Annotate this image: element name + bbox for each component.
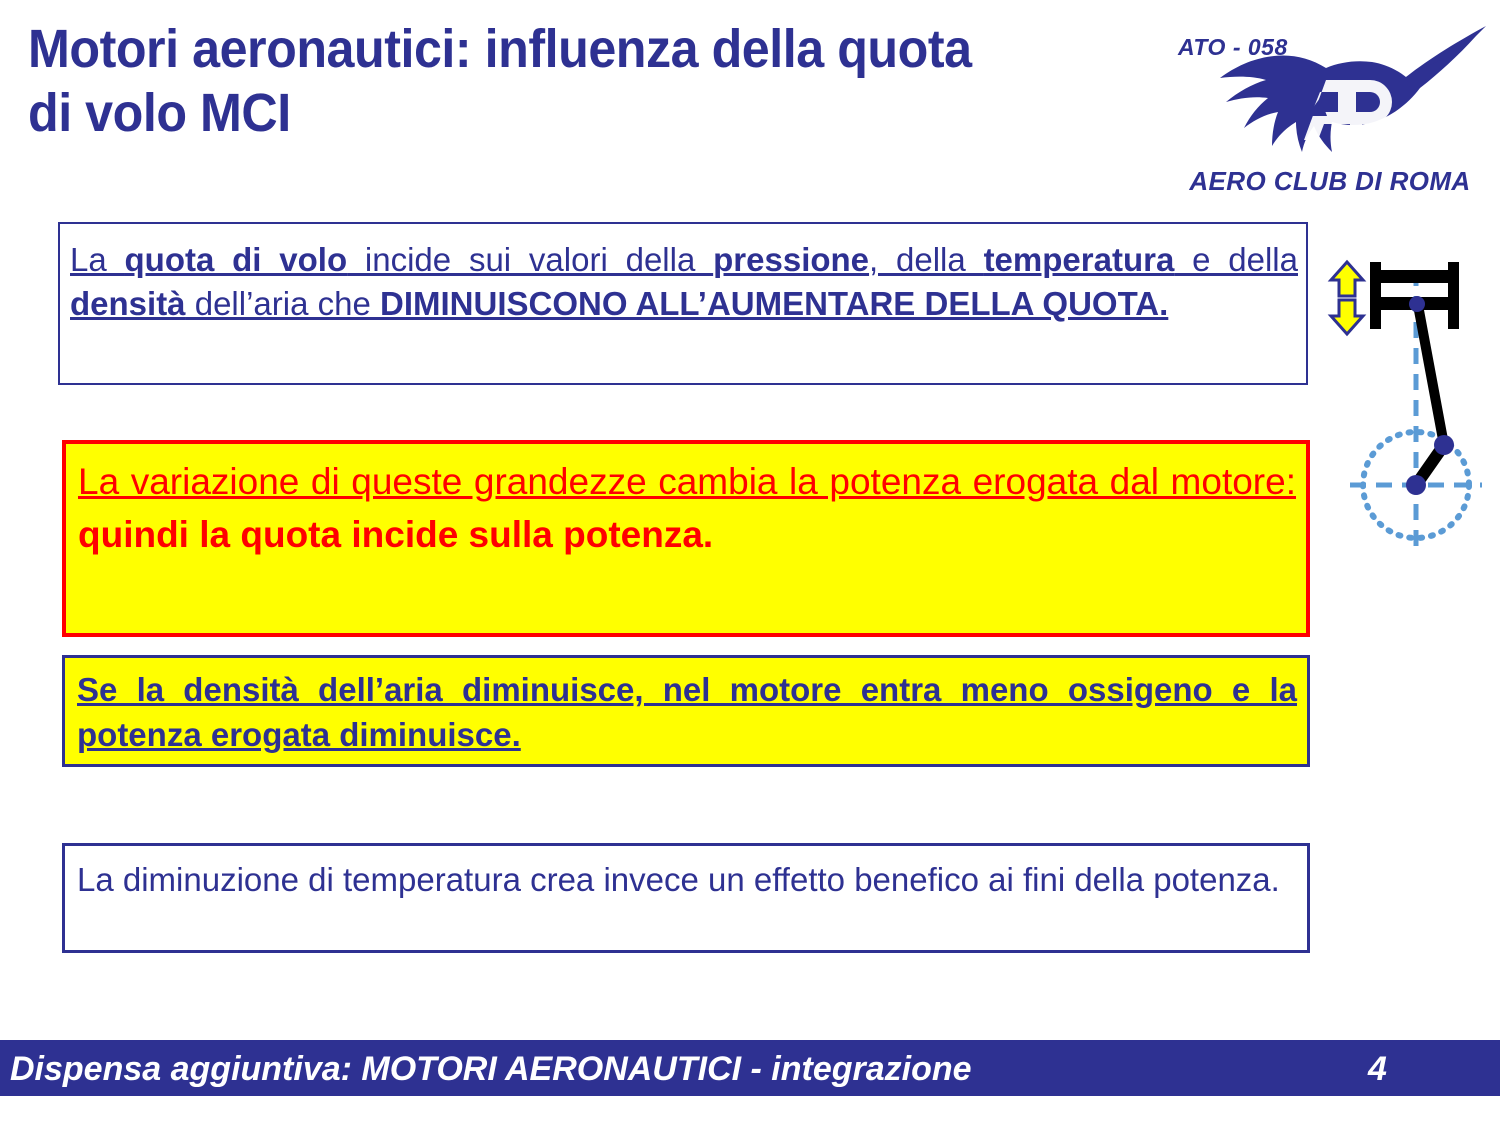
logo-ato-code: ATO - 058 — [1178, 34, 1288, 61]
quota-seg-10: DIMINUISCONO ALL’AUMENTARE DELLA QUOTA. — [380, 285, 1168, 322]
crank-pin-icon — [1434, 435, 1454, 455]
footer-page-number: 4 — [1368, 1050, 1387, 1089]
slide-root: Motori aeronautici: influenza della quot… — [0, 0, 1500, 1125]
variazione-seg-2: quindi la quota incide sulla potenza. — [78, 514, 713, 555]
temperatura-text: La diminuzione di temperatura crea invec… — [77, 861, 1280, 898]
textbox-diminuzione-temperatura: La diminuzione di temperatura crea invec… — [62, 843, 1310, 953]
crank-center-icon — [1406, 475, 1426, 495]
piston-crank-diagram — [1320, 240, 1500, 560]
arrow-down-icon — [1331, 300, 1363, 334]
aero-club-logo: ATO - 058 AERO CLUB DI ROMA — [1140, 14, 1490, 206]
variazione-seg-1: La variazione di queste grandezze cambia… — [78, 461, 1296, 502]
piston-icon — [1370, 262, 1459, 329]
logo-club-name: AERO CLUB DI ROMA — [1170, 166, 1490, 197]
quota-seg-7: e della — [1174, 241, 1298, 278]
textbox-quota-di-volo: La quota di volo incide sui valori della… — [58, 222, 1308, 385]
footer-title: Dispensa aggiuntiva: MOTORI AERONAUTICI … — [10, 1050, 972, 1089]
densita-text: Se la densità dell’aria diminuisce, nel … — [77, 671, 1297, 753]
quota-seg-1: La — [70, 241, 125, 278]
quota-seg-4: pressione — [713, 241, 869, 278]
textbox-densita-aria: Se la densità dell’aria diminuisce, nel … — [62, 655, 1310, 767]
quota-seg-2: quota di volo — [125, 241, 348, 278]
connecting-rod-icon — [1418, 305, 1444, 445]
quota-seg-6: temperatura — [984, 241, 1175, 278]
quota-seg-8: densità — [70, 285, 186, 322]
wrist-pin-icon — [1409, 296, 1425, 312]
textbox-variazione-grandezze: La variazione di queste grandezze cambia… — [62, 440, 1310, 637]
arrow-up-icon — [1331, 262, 1363, 296]
quota-seg-5: , della — [869, 241, 984, 278]
quota-seg-9: dell’aria che — [186, 285, 380, 322]
quota-seg-3: incide sui valori della — [347, 241, 713, 278]
page-title: Motori aeronautici: influenza della quot… — [28, 18, 1014, 145]
footer-bar: Dispensa aggiuntiva: MOTORI AERONAUTICI … — [0, 1040, 1500, 1096]
